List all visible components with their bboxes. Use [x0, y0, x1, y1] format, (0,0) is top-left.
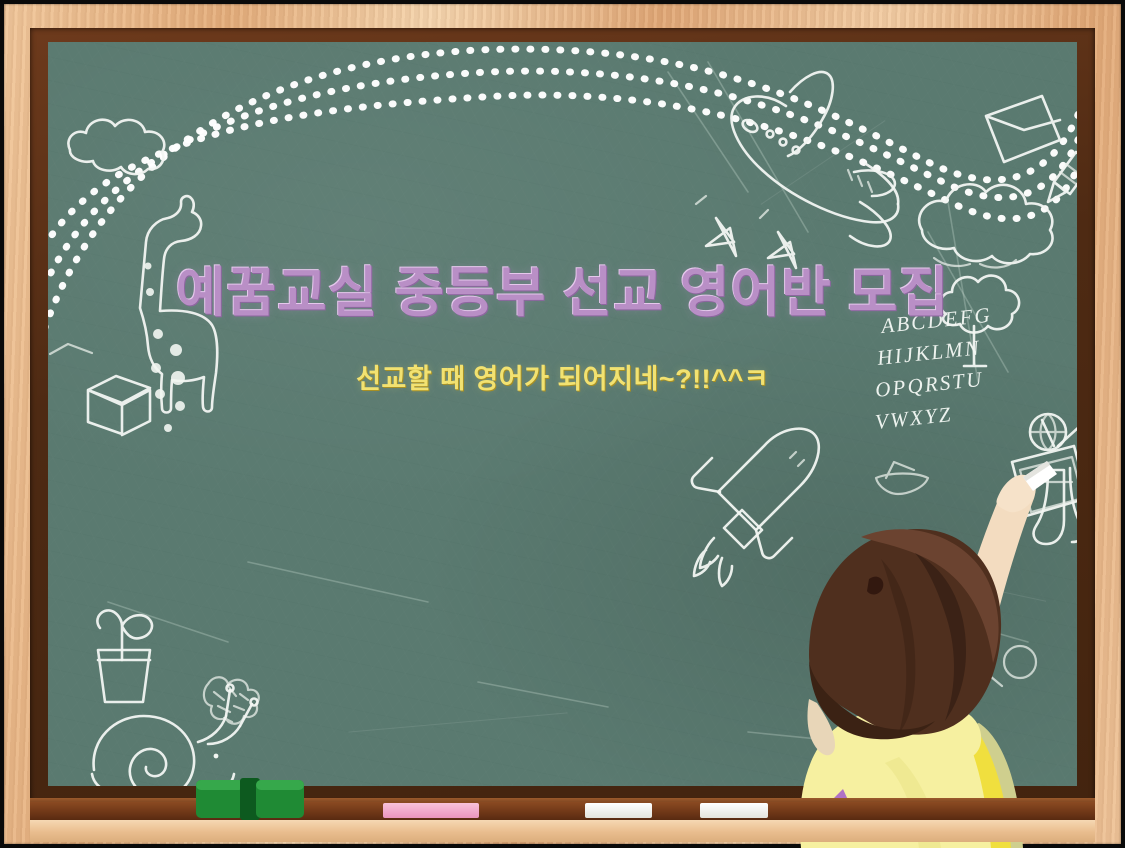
poster-subtitle: 선교할 때 영어가 되어지네~?!!^^ㅋ	[356, 357, 769, 396]
chalk-white-2[interactable]	[700, 803, 768, 818]
subtitle-container: 선교할 때 영어가 되어지네~?!!^^ㅋ	[0, 357, 1125, 396]
svg-text:VWXYZ: VWXYZ	[874, 402, 954, 434]
chalk-ledge-lip	[30, 820, 1095, 842]
blackboard-eraser[interactable]	[196, 778, 304, 820]
poster-title: 예꿈교실 중등부 선교 영어반 모집	[176, 248, 950, 327]
airplane-drawing	[732, 72, 899, 246]
title-container: 예꿈교실 중등부 선교 영어반 모집	[0, 248, 1125, 327]
chalk-white-1[interactable]	[585, 803, 652, 818]
chalk-ledge	[30, 802, 1095, 822]
flowerpot-drawing	[97, 610, 152, 702]
chalk-pink[interactable]	[383, 803, 479, 818]
envelope-drawing	[986, 96, 1060, 162]
chalkboard-poster: .ck{fill:none;stroke:#f2f6f2;stroke-widt…	[0, 0, 1125, 848]
child-writing-on-board	[765, 433, 1125, 848]
snail-drawing	[92, 685, 258, 787]
